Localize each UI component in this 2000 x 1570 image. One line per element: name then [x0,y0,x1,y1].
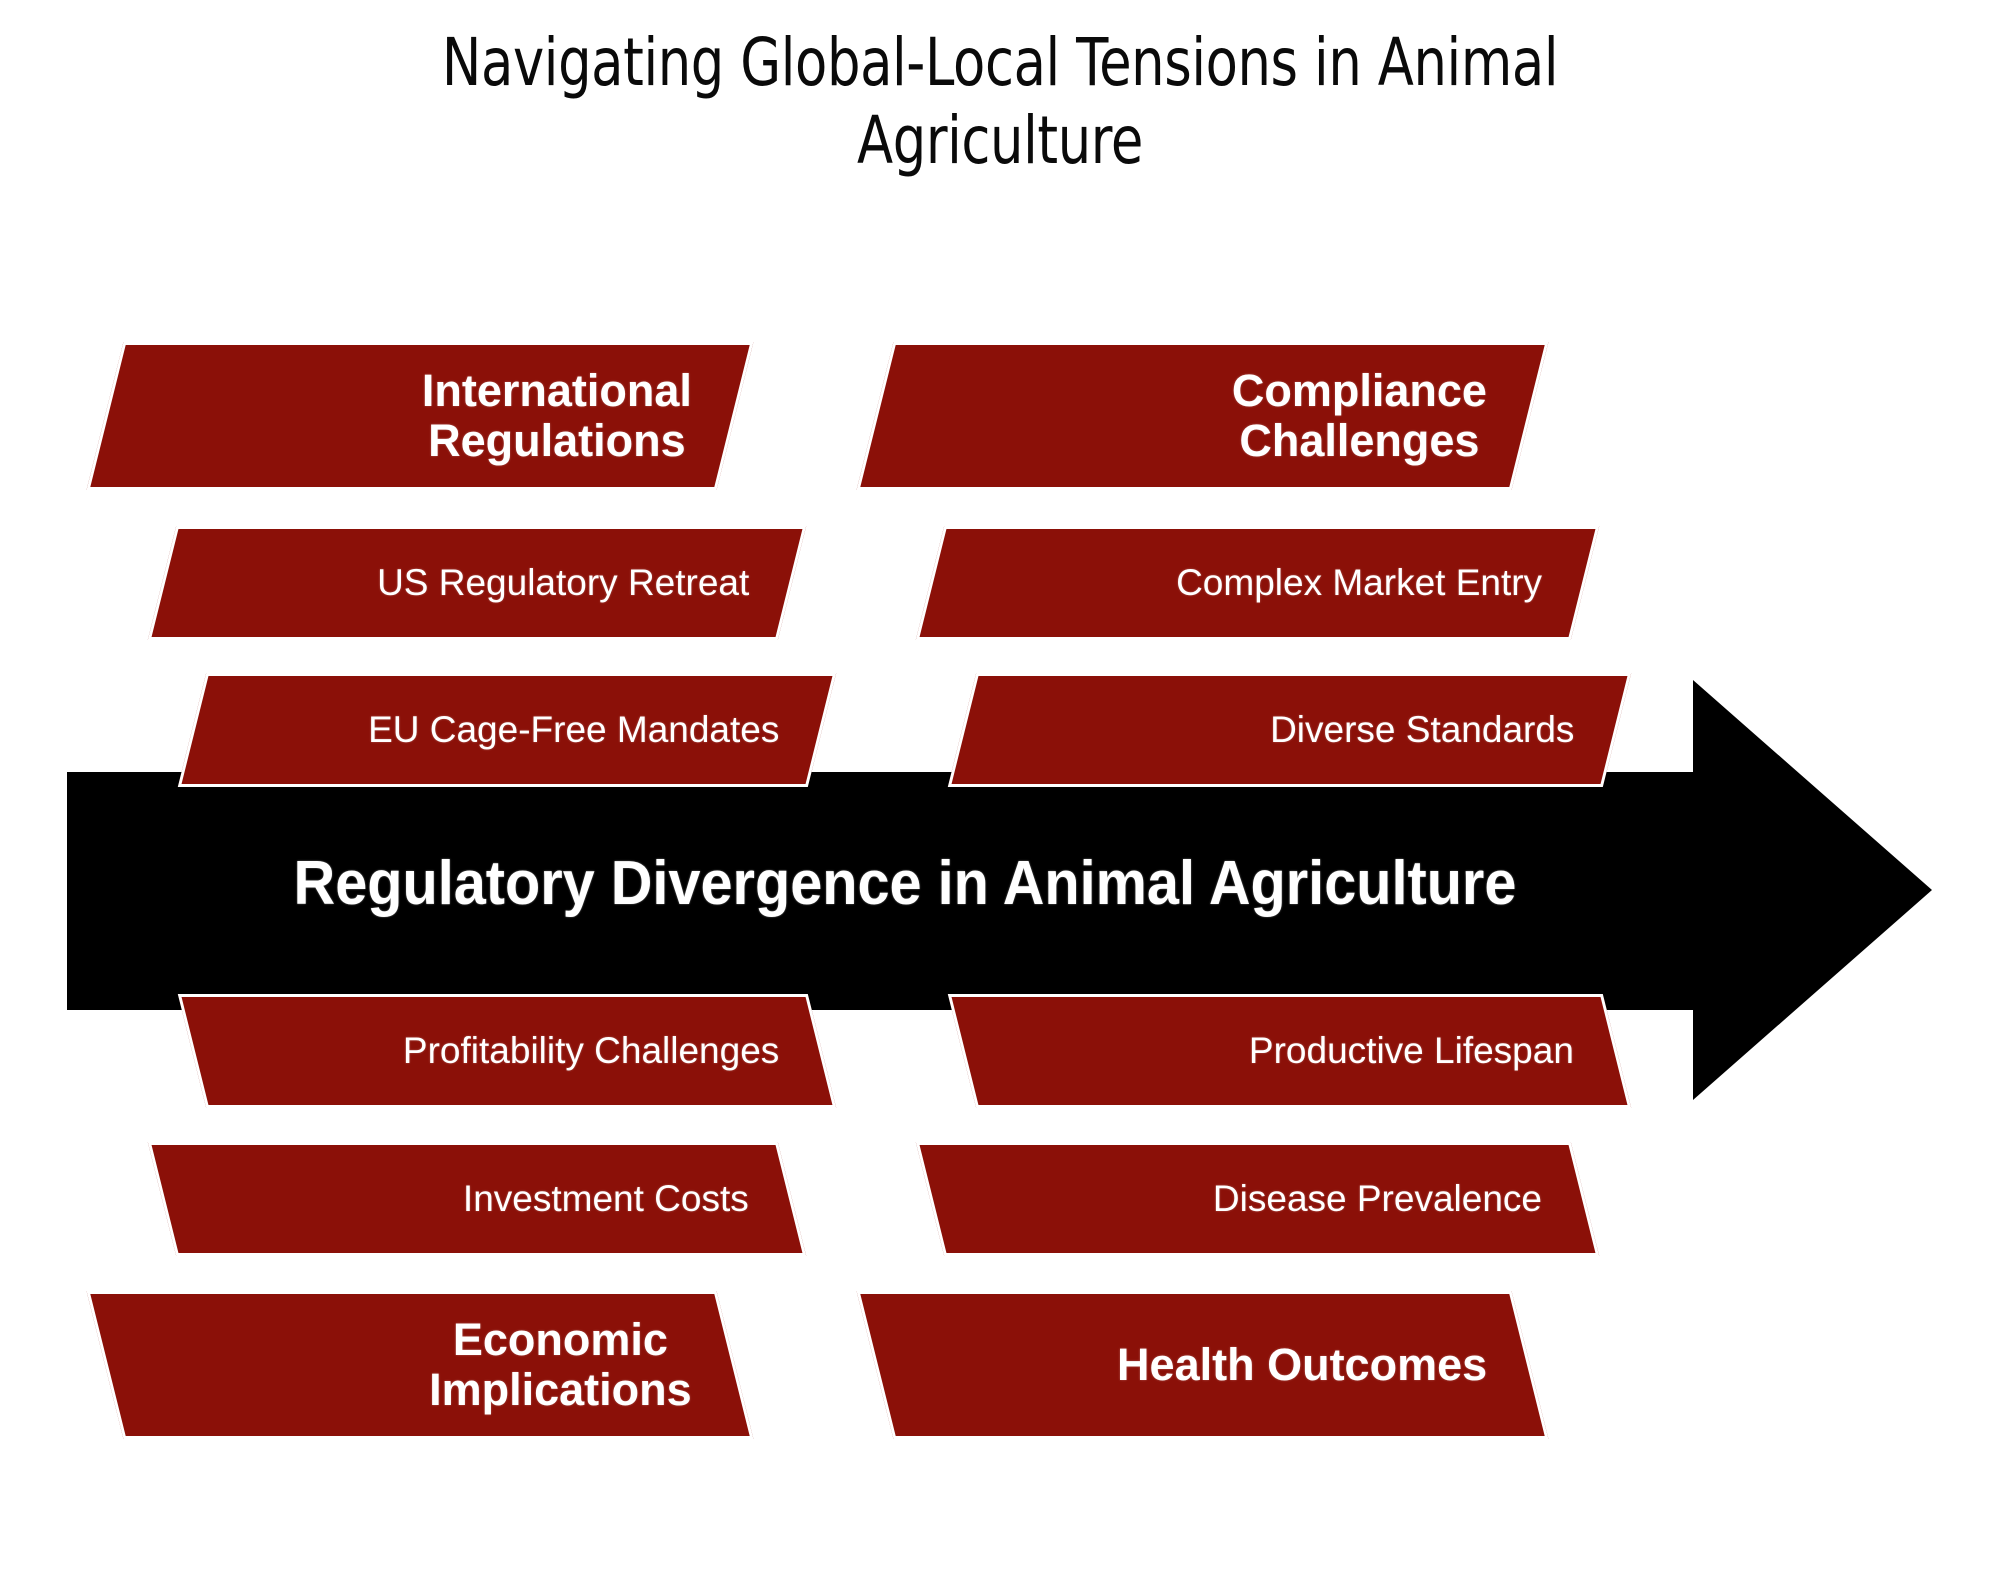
cause-box-investment-costs[interactable]: Investment Costs [148,1142,806,1256]
cause-label-diverse-standards: Diverse Standards [1270,709,1614,750]
page-title: Navigating Global-Local Tensions in Anim… [200,24,1800,180]
category-label-compliance-challenges: Compliance Challenges [1232,366,1527,467]
category-box-health-outcomes[interactable]: Health Outcomes [857,1291,1549,1439]
cause-label-productive-lifespan: Productive Lifespan [1249,1030,1614,1071]
cause-box-profitability-challenges[interactable]: Profitability Challenges [178,994,836,1108]
category-label-international-regulations: International Regulations [422,366,732,467]
category-box-international-regulations[interactable]: International Regulations [87,342,754,490]
cause-box-complex-market-entry[interactable]: Complex Market Entry [916,526,1599,640]
cause-box-diverse-standards[interactable]: Diverse Standards [948,673,1631,787]
category-box-compliance-challenges[interactable]: Compliance Challenges [857,342,1549,490]
fishbone-diagram-canvas: Navigating Global-Local Tensions in Anim… [0,0,2000,1570]
category-box-economic-implications[interactable]: Economic Implications [87,1291,754,1439]
cause-label-us-regulatory-retreat: US Regulatory Retreat [377,562,789,603]
spine-label: Regulatory Divergence in Animal Agricult… [119,848,1691,919]
cause-label-eu-cage-free-mandates: EU Cage-Free Mandates [368,709,819,750]
category-label-health-outcomes: Health Outcomes [1117,1340,1527,1390]
cause-box-productive-lifespan[interactable]: Productive Lifespan [948,994,1631,1108]
cause-box-eu-cage-free-mandates[interactable]: EU Cage-Free Mandates [178,673,836,787]
cause-label-disease-prevalence: Disease Prevalence [1213,1178,1582,1219]
cause-box-disease-prevalence[interactable]: Disease Prevalence [916,1142,1599,1256]
cause-label-profitability-challenges: Profitability Challenges [403,1030,819,1071]
cause-label-complex-market-entry: Complex Market Entry [1176,562,1582,603]
cause-label-investment-costs: Investment Costs [463,1178,789,1219]
cause-box-us-regulatory-retreat[interactable]: US Regulatory Retreat [148,526,806,640]
category-label-economic-implications: Economic Implications [429,1315,732,1416]
